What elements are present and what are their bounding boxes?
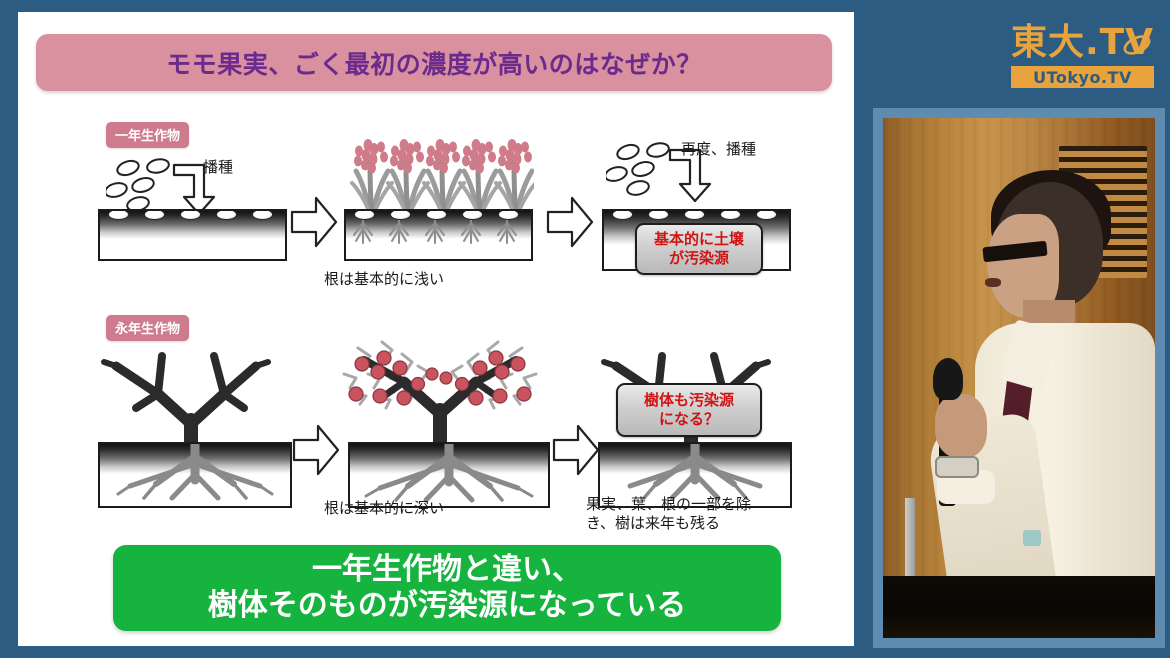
fruit-tree-icon bbox=[340, 338, 540, 448]
utokyo-tv-logo[interactable]: 東大.TV UTokyo.TV bbox=[1005, 14, 1160, 92]
slide-content: モモ果実、ごく最初の濃度が高いのはなぜか？ 一年生作物 永年生作物 播種 bbox=[18, 12, 854, 646]
stage-arrow-icon-3 bbox=[292, 422, 340, 478]
bare-tree-icon bbox=[96, 342, 286, 448]
speaker-hand bbox=[935, 394, 987, 458]
deep-roots-icon-2 bbox=[350, 444, 548, 504]
banner-line-2: 樹体そのものが汚染源になっている bbox=[208, 588, 687, 624]
label-annual-crop: 一年生作物 bbox=[106, 122, 189, 148]
rice-plants-icon bbox=[344, 137, 534, 217]
swirl-icon bbox=[1122, 30, 1152, 60]
soil-block-annual-2 bbox=[344, 209, 533, 261]
name-badge bbox=[1023, 530, 1041, 546]
callout-soil-contamination: 基本的に土壌 が汚染源 bbox=[635, 223, 763, 275]
dark-foreground bbox=[883, 576, 1155, 638]
soil-block-annual-1 bbox=[98, 209, 287, 261]
speaker-mouth bbox=[985, 278, 1001, 287]
slide-title-bar: モモ果実、ごく最初の濃度が高いのはなぜか？ bbox=[36, 34, 832, 91]
caption-shallow-roots: 根は基本的に浅い bbox=[324, 270, 444, 289]
microphone-icon bbox=[933, 358, 963, 400]
wristwatch-icon bbox=[935, 456, 979, 478]
stage-arrow-icon-2 bbox=[546, 194, 594, 250]
caption-deep-roots: 根は基本的に深い bbox=[324, 499, 444, 518]
page-title: モモ果実、ごく最初の濃度が高いのはなぜか？ bbox=[166, 45, 702, 81]
stage-arrow-icon-1 bbox=[290, 194, 338, 250]
banner-line-1: 一年生作物と違い、 bbox=[312, 552, 582, 588]
caption-tree-remains: 果実、葉、根の一部を除 き、樹は来年も残る bbox=[586, 495, 786, 533]
stage-arrow-icon-4 bbox=[552, 422, 600, 478]
soil-block-perennial-1 bbox=[98, 442, 292, 508]
caption-sowing: 播種 bbox=[203, 158, 233, 177]
label-perennial-crop: 永年生作物 bbox=[106, 315, 189, 341]
speaker-video[interactable] bbox=[883, 118, 1155, 638]
callout-tree-contamination: 樹体も汚染源 になる？ bbox=[616, 383, 762, 437]
deep-roots-icon-1 bbox=[100, 444, 290, 504]
conclusion-banner: 一年生作物と違い、 樹体そのものが汚染源になっている bbox=[113, 545, 781, 631]
caption-resowing: 再度、播種 bbox=[681, 140, 756, 159]
presentation-slide: モモ果実、ごく最初の濃度が高いのはなぜか？ 一年生作物 永年生作物 播種 bbox=[18, 12, 854, 646]
shallow-roots-icon bbox=[346, 215, 531, 249]
logo-sub-text: UTokyo.TV bbox=[1011, 66, 1154, 88]
